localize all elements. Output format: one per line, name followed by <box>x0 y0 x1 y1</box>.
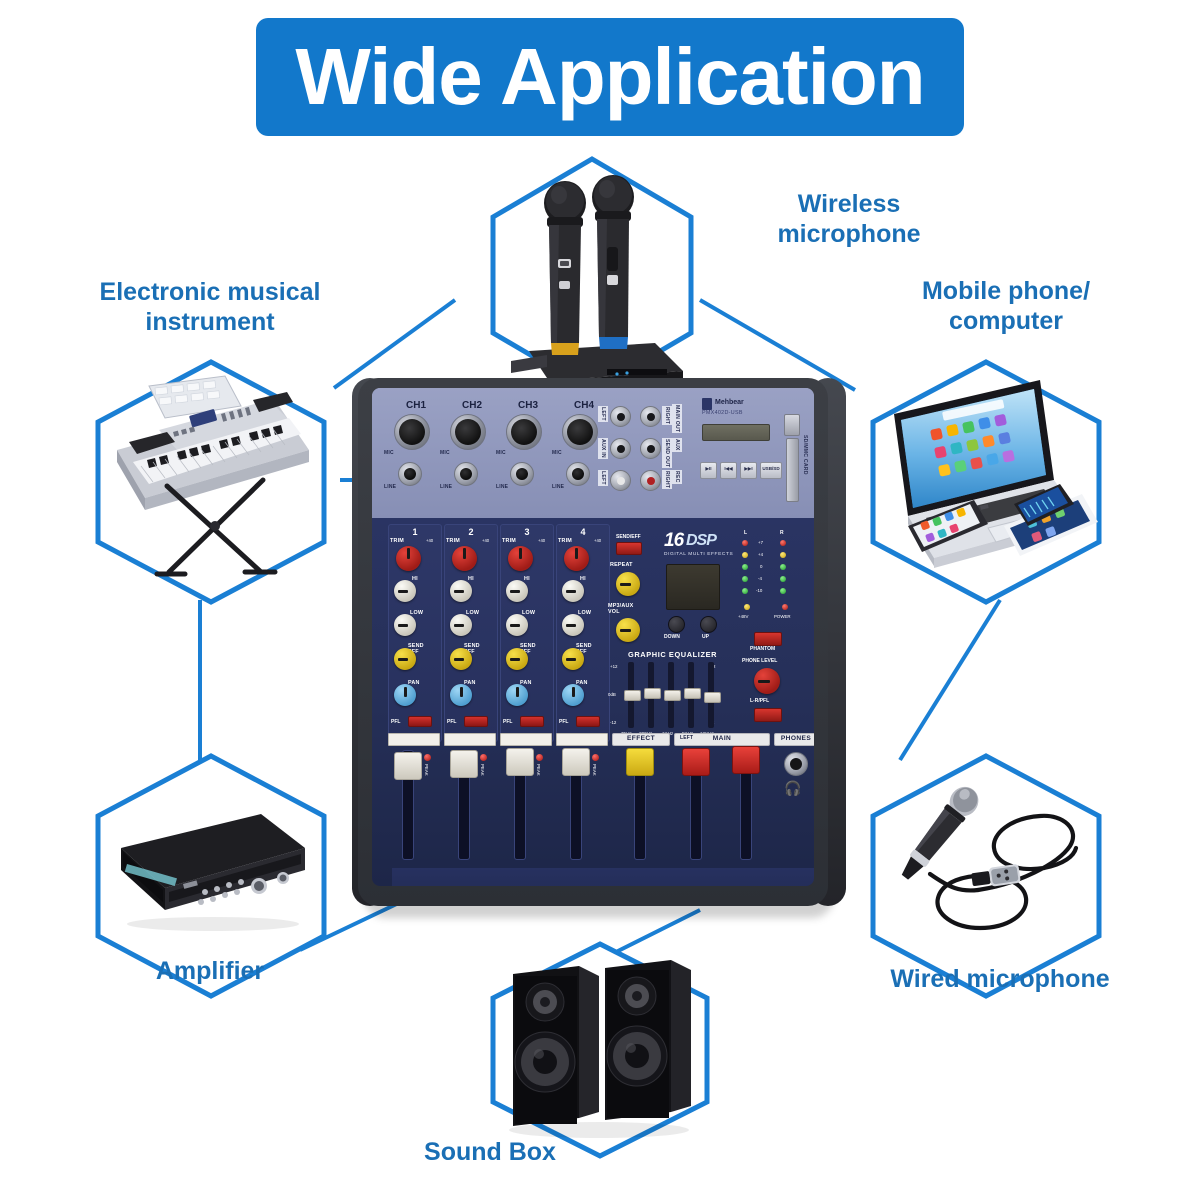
io-label-aux-in: AUX IN <box>598 438 608 459</box>
media-button-next-label: ▶▶I <box>741 466 756 472</box>
up-button[interactable] <box>700 616 717 633</box>
hi-knob-2[interactable] <box>450 580 472 602</box>
power-led <box>782 604 788 610</box>
peak-label-3: PEAK <box>536 764 541 776</box>
label-mobile-phone-computer: Mobile phone/ computer <box>866 277 1146 336</box>
pfl-button-4[interactable] <box>576 716 600 727</box>
label-amplifier: Amplifier <box>90 957 330 987</box>
hex-cell-wired-microphone <box>868 752 1104 1000</box>
mixer-front-edge <box>392 868 814 886</box>
line-input-2[interactable] <box>454 462 478 486</box>
repeat-label: REPEAT <box>610 562 633 568</box>
media-button-next[interactable]: ▶▶I <box>740 462 757 479</box>
repeat-knob[interactable] <box>616 572 640 596</box>
meter-led-left-plus4 <box>742 552 748 558</box>
low-knob-1[interactable] <box>394 614 416 636</box>
media-button-prev[interactable]: I◀◀ <box>720 462 737 479</box>
mp3-aux-vol-knob[interactable] <box>616 618 640 642</box>
xlr-input-3[interactable] <box>506 414 542 450</box>
pfl-label-1: PFL <box>391 719 400 725</box>
eq-tick-minus12: -12 <box>610 720 616 725</box>
phantom-button-label: PHANTOM <box>750 646 775 652</box>
io-label-aux: AUX <box>672 438 682 452</box>
send-eff-knob-1[interactable] <box>394 648 416 670</box>
meter-led-left-minus10 <box>742 588 748 594</box>
trim-knob-4[interactable] <box>564 546 589 571</box>
trim-max-3: +40 <box>538 538 545 543</box>
low-label-3: LOW <box>522 610 535 616</box>
dsp-screen <box>666 564 720 610</box>
low-label-1: LOW <box>410 610 423 616</box>
hex-cell-sound-box <box>487 940 713 1160</box>
pfl-label-3: PFL <box>503 719 512 725</box>
channel-header-1: CH1 <box>406 400 426 411</box>
trim-max-2: +40 <box>482 538 489 543</box>
phones-plate: PHONES <box>774 733 814 746</box>
hex-cell-mobile-phone-computer <box>868 358 1104 606</box>
hi-knob-1[interactable] <box>394 580 416 602</box>
mic-label-4: MIC <box>552 450 562 456</box>
sd-card-slot[interactable] <box>786 438 799 502</box>
main-right-fader[interactable] <box>732 746 760 774</box>
peak-led-3 <box>536 754 543 761</box>
channel-scribble-strip-1[interactable] <box>388 733 440 746</box>
trim-knob-3[interactable] <box>508 546 533 571</box>
strip-number-2: 2 <box>445 527 497 537</box>
io-label-rec: REC <box>672 470 682 484</box>
trim-label-4: TRIM <box>558 538 572 544</box>
strip-number-3: 3 <box>501 527 553 537</box>
lr-pfl-label: L-R/PFL <box>750 698 769 704</box>
hex-cell-electronic-musical-instrument <box>93 358 329 606</box>
channel-scribble-strip-3[interactable] <box>500 733 552 746</box>
meter-scale-plus4: +4 <box>758 552 763 557</box>
meter-label-right: R <box>780 530 784 536</box>
keyboard-photo <box>93 358 329 606</box>
rca-main-out-right[interactable] <box>640 406 661 427</box>
eq-slider-5khz[interactable] <box>684 688 701 699</box>
peak-led-2 <box>480 754 487 761</box>
trim-knob-2[interactable] <box>452 546 477 571</box>
send-eff-button-label: SEND/EFF <box>616 534 641 540</box>
channel-fader-1[interactable] <box>394 752 422 780</box>
low-knob-2[interactable] <box>450 614 472 636</box>
mic-label-1: MIC <box>384 450 394 456</box>
channel-scribble-strip-4[interactable] <box>556 733 608 746</box>
meter-led-left-0 <box>742 564 748 570</box>
line-input-1[interactable] <box>398 462 422 486</box>
phones-output-jack[interactable] <box>784 752 808 776</box>
pan-knob-3[interactable] <box>506 684 528 706</box>
low-knob-4[interactable] <box>562 614 584 636</box>
low-label-4: LOW <box>578 610 591 616</box>
hi-label-1: HI <box>412 576 418 582</box>
xlr-input-1[interactable] <box>394 414 430 450</box>
hex-cell-wireless-microphone <box>487 155 697 395</box>
trim-knob-1[interactable] <box>396 546 421 571</box>
media-button-usb-sd[interactable]: USB/SD <box>760 462 782 479</box>
pan-knob-4[interactable] <box>562 684 584 706</box>
effect-fader-label: EFFECT <box>613 735 669 742</box>
mp3-aux-vol-label: MP3/AUX VOL <box>608 604 633 615</box>
eq-tick-0db: 0dB <box>608 692 616 697</box>
dsp-badge-number: 16 <box>664 530 683 552</box>
low-label-2: LOW <box>466 610 479 616</box>
rca-aux-send-left[interactable] <box>610 438 631 459</box>
media-button-usb-sd-label: USB/SD <box>761 466 781 471</box>
laptop-phones-photo <box>868 358 1104 606</box>
strip-number-1: 1 <box>389 527 441 537</box>
mixer-faceplate: CH1 MIC LINE CH2 MIC LINE CH3 MIC LINE <box>372 388 814 886</box>
io-label-rec-left: LEFT <box>598 470 608 486</box>
label-sound-box: Sound Box <box>370 1138 610 1168</box>
channel-header-2: CH2 <box>462 400 482 411</box>
send-eff-knob-2[interactable] <box>450 648 472 670</box>
channel-header-3: CH3 <box>518 400 538 411</box>
trim-label-2: TRIM <box>446 538 460 544</box>
eq-slider-12khz[interactable] <box>704 692 721 703</box>
meter-label-left: L <box>744 530 747 536</box>
phantom-button[interactable] <box>754 632 782 646</box>
pfl-button-3[interactable] <box>520 716 544 727</box>
line-label-2: LINE <box>440 484 452 490</box>
phones-label: PHONES <box>775 735 814 742</box>
pfl-label-4: PFL <box>559 719 568 725</box>
line-label-1: LINE <box>384 484 396 490</box>
meter-scale-minus4: -4 <box>758 576 762 581</box>
label-wired-microphone: Wired microphone <box>850 965 1150 995</box>
peak-label-1: PEAK <box>424 764 429 776</box>
sd-card-slot-label: SD/MMC CARD <box>800 434 810 476</box>
media-button-playpause[interactable]: ▶II <box>700 462 717 479</box>
mic-label-2: MIC <box>440 450 450 456</box>
lr-pfl-button[interactable] <box>754 708 782 722</box>
mixer-lcd-display <box>702 424 770 441</box>
eq-slider-200hz[interactable] <box>644 688 661 699</box>
line-label-4: LINE <box>552 484 564 490</box>
meter-led-right-plus4 <box>780 552 786 558</box>
rca-main-out-left[interactable] <box>610 406 631 427</box>
trim-label-1: TRIM <box>390 538 404 544</box>
headphones-icon: 🎧 <box>784 780 801 797</box>
effect-fader[interactable] <box>626 748 654 776</box>
meter-scale-minus10: -10 <box>756 588 762 593</box>
down-button[interactable] <box>668 616 685 633</box>
channel-header-4: CH4 <box>574 400 594 411</box>
trim-max-4: +40 <box>594 538 601 543</box>
line-label-3: LINE <box>496 484 508 490</box>
model-number: PMX402D-USB <box>702 410 743 416</box>
power-led-label: POWER <box>774 614 791 619</box>
peak-label-4: PEAK <box>592 764 597 776</box>
channel-fader-3[interactable] <box>506 748 534 776</box>
eq-slider-1khz[interactable] <box>664 690 681 701</box>
main-left-fader[interactable] <box>682 748 710 776</box>
brand-logo-icon <box>702 398 712 410</box>
xlr-input-2[interactable] <box>450 414 486 450</box>
phone-level-label: PHONE LEVEL <box>742 658 777 664</box>
meter-led-left-minus4 <box>742 576 748 582</box>
hi-label-4: HI <box>580 576 586 582</box>
hi-label-2: HI <box>468 576 474 582</box>
meter-led-right-minus10 <box>780 588 786 594</box>
channel-scribble-strip-2[interactable] <box>444 733 496 746</box>
infographic-canvas: Wide Application <box>0 0 1200 1200</box>
pan-knob-2[interactable] <box>450 684 472 706</box>
phone-level-knob[interactable] <box>754 668 780 694</box>
trim-label-3: TRIM <box>502 538 516 544</box>
io-label-main-out-right: RIGHT <box>662 406 672 425</box>
pfl-button-2[interactable] <box>464 716 488 727</box>
hi-knob-3[interactable] <box>506 580 528 602</box>
phantom-power-led-label: +48V <box>738 614 748 619</box>
up-button-label: UP <box>702 634 709 640</box>
send-eff-button[interactable] <box>616 542 642 555</box>
wireless-microphone-photo <box>487 155 697 395</box>
strip-number-4: 4 <box>557 527 609 537</box>
meter-scale-plus7: +7 <box>758 540 763 545</box>
send-eff-knob-3[interactable] <box>506 648 528 670</box>
down-button-label: DOWN <box>664 634 680 640</box>
eq-slider-75hz[interactable] <box>624 690 641 701</box>
trim-max-1: +40 <box>426 538 433 543</box>
usb-port[interactable] <box>784 414 800 436</box>
channel-fader-4[interactable] <box>562 748 590 776</box>
meter-led-right-plus7 <box>780 540 786 546</box>
io-label-rec-right: RIGHT <box>662 470 672 489</box>
peak-led-1 <box>424 754 431 761</box>
send-eff-knob-4[interactable] <box>562 648 584 670</box>
pfl-label-2: PFL <box>447 719 456 725</box>
media-button-playpause-label: ▶II <box>701 466 716 472</box>
wired-microphone-photo <box>868 752 1104 1000</box>
rca-aux-send-right[interactable] <box>640 438 661 459</box>
speakers-photo <box>487 940 713 1160</box>
meter-led-left-plus7 <box>742 540 748 546</box>
label-electronic-musical-instrument: Electronic musical instrument <box>62 278 358 337</box>
mic-label-3: MIC <box>496 450 506 456</box>
meter-led-right-0 <box>780 564 786 570</box>
brand-name: Mehbear <box>715 399 744 406</box>
pfl-button-1[interactable] <box>408 716 432 727</box>
low-knob-3[interactable] <box>506 614 528 636</box>
line-input-4[interactable] <box>566 462 590 486</box>
rca-rec-left[interactable] <box>610 470 631 491</box>
peak-label-2: PEAK <box>480 764 485 776</box>
effect-fader-plate: EFFECT <box>612 733 670 746</box>
dsp-subtitle: DIGITAL MULTI EFFECTS <box>664 552 733 557</box>
eq-tick-plus12: +12 <box>610 664 617 669</box>
hi-label-3: HI <box>524 576 530 582</box>
equalizer-title: GRAPHIC EQUALIZER <box>628 650 717 659</box>
audio-mixer-product: CH1 MIC LINE CH2 MIC LINE CH3 MIC LINE <box>358 378 840 926</box>
media-button-prev-label: I◀◀ <box>721 466 736 472</box>
io-label-main-out-left: LEFT <box>598 406 608 422</box>
meter-led-right-minus4 <box>780 576 786 582</box>
hi-knob-4[interactable] <box>562 580 584 602</box>
pan-knob-1[interactable] <box>394 684 416 706</box>
phantom-power-led <box>744 604 750 610</box>
io-label-send-out: SEND OUT <box>662 438 672 468</box>
main-left-label: LEFT <box>680 735 693 741</box>
io-label-main-out: MAIN OUT <box>672 404 682 433</box>
peak-led-4 <box>592 754 599 761</box>
rca-rec-right[interactable] <box>640 470 661 491</box>
channel-fader-2[interactable] <box>450 750 478 778</box>
line-input-3[interactable] <box>510 462 534 486</box>
label-wireless-microphone: Wireless microphone <box>716 190 982 249</box>
meter-scale-0: 0 <box>760 564 762 569</box>
xlr-input-4[interactable] <box>562 414 598 450</box>
dsp-badge-text: DSP <box>686 532 716 550</box>
